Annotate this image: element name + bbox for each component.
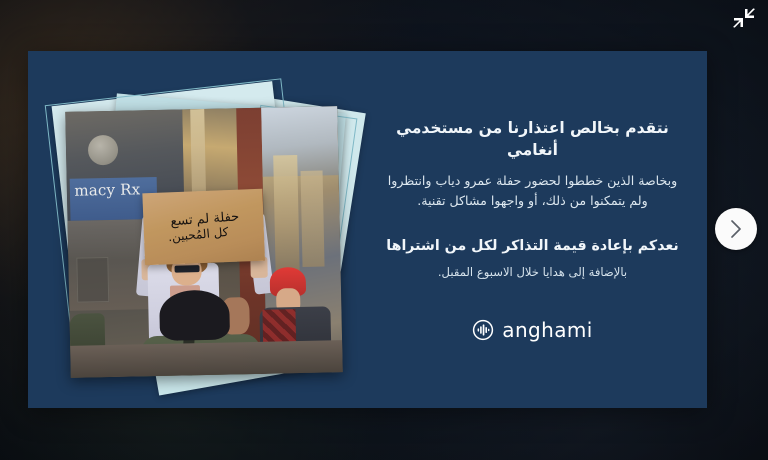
- announcement-slide-card: macy Rx حفلة لم تسع كل المُحبين.: [28, 51, 707, 408]
- anghami-wordmark: anghami: [502, 318, 592, 342]
- photo-building-reflection-1: [273, 155, 300, 273]
- photo-black-beanie: [159, 289, 231, 341]
- photo-cardboard-sign: حفلة لم تسع كل المُحبين.: [143, 189, 265, 265]
- protest-photo: macy Rx حفلة لم تسع كل المُحبين.: [65, 106, 343, 378]
- photo-window-grid: [76, 257, 109, 302]
- refund-headline: نعدكم بإعادة قيمة التذاكر لكل من اشتراها: [386, 237, 678, 257]
- refund-body: بالإضافة إلى هدايا خلال الاسبوع المقبل.: [438, 264, 627, 282]
- next-slide-button[interactable]: [715, 208, 757, 250]
- chevron-right-icon: [728, 218, 744, 240]
- apology-headline: نتقدم بخالص اعتذارنا من مستخدمي أنغامي: [378, 117, 687, 162]
- photo-wall-clock: [87, 135, 118, 166]
- collapse-arrows-icon: [728, 6, 758, 34]
- photo-building-reflection-2: [300, 170, 324, 266]
- apology-body: وبخاصة الذين خططوا لحضور حفلة عمرو دياب …: [378, 171, 687, 212]
- collapse-fullscreen-button[interactable]: [728, 6, 758, 34]
- anghami-soundwave-icon: [472, 319, 494, 341]
- photo-collage: macy Rx حفلة لم تسع كل المُحبين.: [36, 61, 358, 399]
- photo-ground: [70, 340, 343, 378]
- announcement-text-column: نتقدم بخالص اعتذارنا من مستخدمي أنغامي و…: [358, 51, 707, 408]
- anghami-brand-lockup: anghami: [472, 318, 592, 342]
- photo-sign-line-2: كل المُحبين.: [167, 226, 228, 244]
- photo-sunglasses: [175, 265, 200, 272]
